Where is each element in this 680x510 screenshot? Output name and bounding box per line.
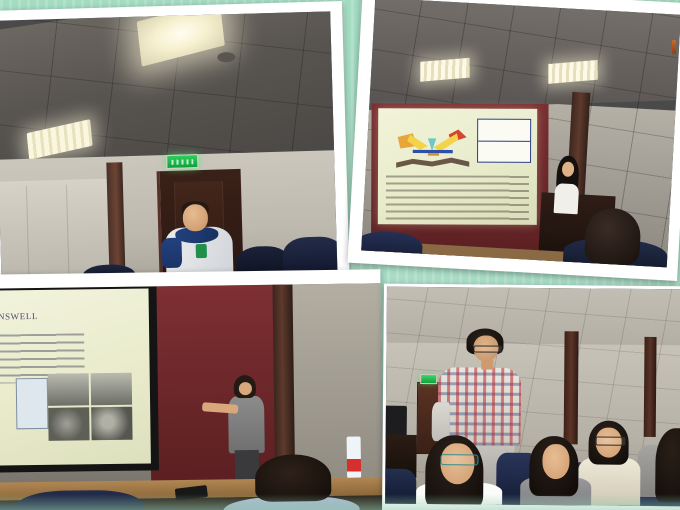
edge-accent-mark <box>672 40 676 54</box>
wood-pillar <box>272 284 295 482</box>
projection-screen <box>378 109 538 226</box>
slide-image-panel <box>48 408 90 441</box>
photo-top-right-image <box>361 0 680 267</box>
photo-bottom-right[interactable] <box>382 284 680 510</box>
slide-title: TRANSWELL <box>0 311 38 322</box>
photo-top-left[interactable] <box>0 1 350 301</box>
slide-image-panel <box>91 407 133 440</box>
photo-top-left-image <box>0 11 338 288</box>
exit-sign-icon <box>166 154 199 169</box>
slide-body-text <box>386 176 529 221</box>
photo-top-right[interactable] <box>347 0 680 281</box>
slide-image-panel <box>48 373 90 406</box>
presenter-body <box>553 183 579 215</box>
presenter-head <box>239 382 253 395</box>
eyeglasses-icon <box>474 345 502 353</box>
red-accent-wall <box>148 285 287 485</box>
photo-collage: TRANSWELL <box>0 0 680 510</box>
shirt-logo <box>195 244 206 258</box>
exit-sign-icon <box>420 374 437 385</box>
photo-bottom-left-image: TRANSWELL <box>0 283 384 510</box>
eyeglasses-icon <box>596 436 626 446</box>
wood-pillar <box>644 337 657 437</box>
slide-schematic <box>16 378 49 429</box>
monitor <box>385 406 407 437</box>
projection-screen: TRANSWELL <box>0 289 151 466</box>
eyeglasses-icon <box>441 454 478 465</box>
person-sleeve <box>160 238 183 268</box>
wood-pillar <box>564 332 579 445</box>
slide-image-panel <box>91 373 133 406</box>
photo-bottom-right-image <box>385 287 680 507</box>
person-head <box>183 204 209 231</box>
slide-inset-graphs <box>477 119 532 163</box>
seated-person-head <box>542 444 570 479</box>
slide-image-panels <box>48 373 133 441</box>
slide-diagram <box>393 120 476 171</box>
lecture-chair <box>385 469 416 507</box>
right-wall <box>284 283 383 483</box>
water-bottle <box>347 437 362 477</box>
audience-head <box>255 454 332 502</box>
photo-bottom-left[interactable]: TRANSWELL <box>0 269 384 510</box>
